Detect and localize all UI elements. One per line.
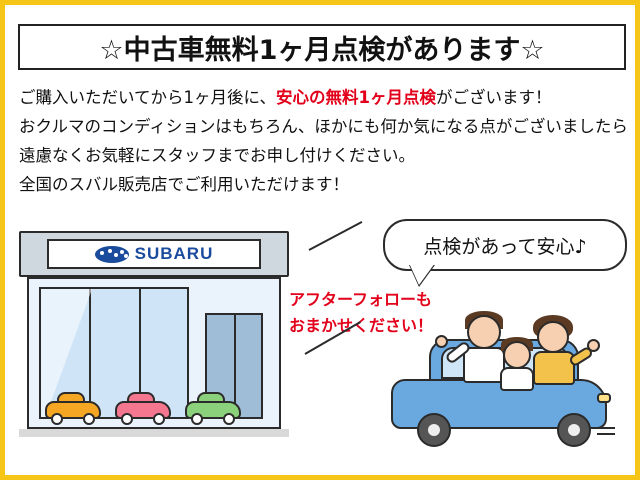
lot-car-orange (45, 393, 101, 427)
decorative-equals (597, 427, 615, 437)
speech-bubble-tail (409, 263, 435, 285)
showroom-ground (19, 429, 289, 437)
family-car-illustration (385, 301, 621, 451)
title-banner: ☆中古車無料1ヶ月点検があります☆ (18, 24, 626, 70)
subaru-logo-icon (95, 246, 129, 263)
car-wheel-left (191, 413, 203, 425)
car-wheel-right (223, 413, 235, 425)
copy-line-1: ご購入いただいてから1ヶ月後に、安心の無料1ヶ月点検がございます！ (19, 83, 631, 112)
car-wheel-left (51, 413, 63, 425)
equals-bar-1 (597, 427, 615, 429)
showroom-illustration: SUBARU (19, 231, 289, 437)
copy-line-1-pre: ご購入いただいてから1ヶ月後に、 (19, 88, 276, 107)
hand (435, 335, 448, 348)
car-wheel-left (417, 413, 451, 447)
page-title: ☆中古車無料1ヶ月点検があります☆ (99, 28, 544, 67)
body-copy: ご購入いただいてから1ヶ月後に、安心の無料1ヶ月点検がございます！ おクルマのコ… (19, 83, 631, 199)
flyer-page: ☆中古車無料1ヶ月点検があります☆ ご購入いただいてから1ヶ月後に、安心の無料1… (0, 0, 640, 480)
copy-line-2: おクルマのコンディションはもちろん、ほかにも何か気になる点がございましたら (19, 112, 631, 141)
copy-line-1-highlight: 安心の無料1ヶ月点検 (276, 88, 436, 107)
equals-bar-2 (597, 433, 615, 435)
car-wheel-right (557, 413, 591, 447)
copy-line-4: 全国のスバル販売店でご利用いただけます！ (19, 170, 631, 199)
illustration-area: SUBARU (5, 201, 640, 485)
hand (587, 339, 600, 352)
decorative-stroke-1 (309, 221, 363, 251)
showroom-sign: SUBARU (47, 239, 261, 269)
lot-car-green (185, 393, 241, 427)
car-wheel-right (153, 413, 165, 425)
torso (533, 351, 575, 385)
subaru-wordmark: SUBARU (135, 244, 214, 264)
car-wheel-right (83, 413, 95, 425)
copy-line-1-post: がございます！ (436, 88, 552, 107)
copy-line-3: 遠慮なくお気軽にスタッフまでお申し付けください。 (19, 141, 631, 170)
speech-bubble-text: 点検があって安心♪ (423, 232, 586, 259)
car-headlight (597, 393, 611, 403)
car-wheel-left (121, 413, 133, 425)
head (537, 321, 569, 353)
person-mother (525, 311, 583, 387)
lot-car-pink (115, 393, 171, 427)
